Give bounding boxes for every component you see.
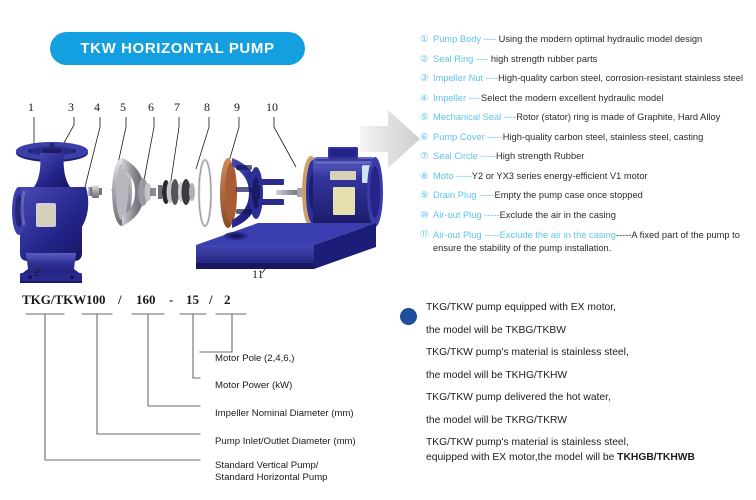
- legend-number: ⑥: [420, 132, 433, 143]
- callout-8: 8: [204, 100, 210, 115]
- note-line: the model will be TKBG/TKBW: [426, 325, 752, 337]
- legend-separator: -----: [478, 151, 496, 161]
- legend-text: Air-out Plug -----Exclude the air in the…: [433, 229, 752, 254]
- legend-number: ⑦: [420, 151, 433, 162]
- note-line: TKG/TKW pump equipped with EX motor,: [426, 302, 752, 314]
- baseplate-graphic: [196, 223, 376, 269]
- legend-number: ⑧: [420, 171, 433, 182]
- callout-1: 1: [28, 100, 34, 115]
- legend-item: ④ Impeller ----Select the modern excelle…: [420, 93, 752, 104]
- legend-text: Air-out Plug -----Exclude the air in the…: [433, 210, 752, 221]
- code-slash-2: /: [209, 292, 213, 308]
- legend-item: ⑧ Moto -----Y2 or YX3 series energy-effi…: [420, 171, 752, 182]
- legend-item: ① Pump Body ---- Using the modern optima…: [420, 34, 752, 45]
- impeller-graphic: [112, 158, 156, 226]
- callout-9: 9: [234, 100, 240, 115]
- legend-description: High-quality carbon steel, corrosion-res…: [498, 73, 743, 83]
- legend-description: Rotor (stator) ring is made of Graphite,…: [516, 112, 720, 122]
- callout-7: 7: [174, 100, 180, 115]
- legend-text: Seal Circle -----High strength Rubber: [433, 151, 752, 162]
- code-dash: -: [169, 292, 173, 308]
- legend-number: ⑪: [420, 229, 433, 240]
- legend-text: Pump Body ---- Using the modern optimal …: [433, 34, 752, 45]
- code-impeller-dia: 160: [136, 292, 156, 308]
- legend-part-name: Impeller: [433, 93, 466, 103]
- legend-part-name: Mechanical Seal: [433, 112, 501, 122]
- legend-description: Empty the pump case once stopped: [495, 190, 643, 200]
- note-line: the model will be TKHG/TKHW: [426, 370, 752, 382]
- model-variant-notes: TKG/TKW pump equipped with EX motor, the…: [400, 302, 752, 475]
- legend-text: Seal Ring ---- high strength rubber part…: [433, 54, 752, 65]
- note-line: the model will be TKRG/TKRW: [426, 415, 752, 427]
- legend-item: ⑥ Pump Cover -----High-quality carbon st…: [420, 132, 752, 143]
- legend-separator: ----: [473, 54, 491, 64]
- nomenclature-leader-lines: [0, 310, 395, 490]
- pump-cover-graphic: [220, 158, 284, 228]
- legend-description: Using the modern optimal hydraulic model…: [499, 34, 703, 44]
- note-line: TKG/TKW pump's material is stainless ste…: [426, 437, 752, 449]
- code-series: TKG/TKW: [22, 292, 86, 308]
- note-line: TKG/TKW pump's material is stainless ste…: [426, 347, 752, 359]
- legend-part-name: Pump Cover: [433, 132, 485, 142]
- nomenclature-label-motor-power: Motor Power (kW): [215, 380, 292, 392]
- callout-2: 2: [34, 265, 40, 280]
- legend-part-name: Impeller Nut: [433, 73, 483, 83]
- nomenclature-label-pump-type-1: Standard Vertical Pump/: [215, 460, 318, 472]
- legend-number: ⑨: [420, 190, 433, 201]
- legend-part-name: Pump Body: [433, 34, 481, 44]
- seal-circle-graphic: [199, 160, 211, 226]
- model-nomenclature: TKG/TKW 100 / 160 - 15 / 2: [0, 292, 395, 497]
- legend-separator: ----: [466, 93, 481, 103]
- legend-separator: -----: [482, 210, 500, 220]
- code-poles: 2: [224, 292, 231, 308]
- legend-separator: ----: [483, 73, 498, 83]
- callout-5: 5: [120, 100, 126, 115]
- legend-description: high strength rubber parts: [491, 54, 597, 64]
- legend-item: ⑦ Seal Circle -----High strength Rubber: [420, 151, 752, 162]
- legend-item: ③ Impeller Nut ----High-quality carbon s…: [420, 73, 752, 84]
- impeller-nut-graphic: [88, 185, 102, 198]
- legend-text: Mechanical Seal ----Rotor (stator) ring …: [433, 112, 752, 123]
- legend-description: High-quality carbon steel, stainless ste…: [503, 132, 704, 142]
- right-arrow-icon: [358, 108, 422, 170]
- legend-part-name: Air-out Plug: [433, 210, 482, 220]
- legend-item: ⑨ Drain Plug -----Empty the pump case on…: [420, 190, 752, 201]
- legend-item: ⑪ Air-out Plug -----Exclude the air in t…: [420, 229, 752, 254]
- callout-4: 4: [94, 100, 100, 115]
- exploded-pump-diagram: 1 3 4 5 6 7 8 9 10 2 11: [0, 95, 395, 285]
- legend-item: ② Seal Ring ---- high strength rubber pa…: [420, 54, 752, 65]
- callout-3: 3: [68, 100, 74, 115]
- legend-number: ⑤: [420, 112, 433, 123]
- callout-10: 10: [266, 100, 278, 115]
- nomenclature-label-inlet-dia: Pump Inlet/Outlet Diameter (mm): [215, 436, 356, 448]
- legend-separator: -----: [485, 132, 503, 142]
- legend-description: Y2 or YX3 series energy-efficient V1 mot…: [472, 171, 648, 181]
- legend-number: ④: [420, 93, 433, 104]
- legend-number: ②: [420, 54, 433, 65]
- pump-casing-graphic: [12, 142, 88, 283]
- legend-number: ③: [420, 73, 433, 84]
- legend-separator: ----: [481, 34, 499, 44]
- legend-separator: ----: [501, 112, 516, 122]
- notes-lines: TKG/TKW pump equipped with EX motor, the…: [426, 302, 752, 464]
- legend-item: ⑩ Air-out Plug -----Exclude the air in t…: [420, 210, 752, 221]
- legend-description: Select the modern excellent hydraulic mo…: [481, 93, 663, 103]
- legend-text: Impeller ----Select the modern excellent…: [433, 93, 752, 104]
- legend-highlight-text: Air-out Plug -----Exclude the air in the…: [433, 230, 616, 240]
- nomenclature-label-impeller-dia: Impeller Nominal Diameter (mm): [215, 408, 354, 420]
- nomenclature-label-motor-pole: Motor Pole (2,4,6,): [215, 353, 294, 365]
- legend-text: Pump Cover -----High-quality carbon stee…: [433, 132, 752, 143]
- note-line-text: equipped with EX motor,the model will be: [426, 452, 617, 463]
- nomenclature-label-pump-type-2: Standard Horizontal Pump: [215, 472, 328, 484]
- legend-part-name: Seal Ring: [433, 54, 473, 64]
- mechanical-seal-graphic: [158, 179, 195, 205]
- page-title: TKW HORIZONTAL PUMP: [50, 32, 305, 65]
- legend-number: ①: [420, 34, 433, 45]
- code-inlet: 100: [86, 292, 106, 308]
- legend-item: ⑤ Mechanical Seal ----Rotor (stator) rin…: [420, 112, 752, 123]
- bullet-icon: [400, 308, 417, 325]
- legend-number: ⑩: [420, 210, 433, 221]
- legend-text: Moto -----Y2 or YX3 series energy-effici…: [433, 171, 752, 182]
- note-line: TKG/TKW pump delivered the hot water,: [426, 392, 752, 404]
- legend-description: Exclude the air in the casing: [500, 210, 616, 220]
- legend-part-name: Drain Plug: [433, 190, 476, 200]
- legend-text: Drain Plug -----Empty the pump case once…: [433, 190, 752, 201]
- code-slash-1: /: [118, 292, 122, 308]
- note-line-model: TKHGB/TKHWB: [617, 452, 695, 463]
- callout-11: 11: [252, 267, 264, 282]
- poster-root: TKW HORIZONTAL PUMP: [0, 0, 756, 500]
- legend-part-name: Moto: [433, 171, 454, 181]
- component-legend: ① Pump Body ---- Using the modern optima…: [420, 34, 752, 254]
- note-line: equipped with EX motor,the model will be…: [426, 452, 752, 464]
- page-title-text: TKW HORIZONTAL PUMP: [80, 40, 274, 57]
- legend-text: Impeller Nut ----High-quality carbon ste…: [433, 73, 752, 84]
- legend-description: High strength Rubber: [496, 151, 584, 161]
- legend-separator: -----: [454, 171, 472, 181]
- code-power: 15: [186, 292, 199, 308]
- legend-part-name: Seal Circle: [433, 151, 478, 161]
- callout-6: 6: [148, 100, 154, 115]
- legend-separator: -----: [476, 190, 494, 200]
